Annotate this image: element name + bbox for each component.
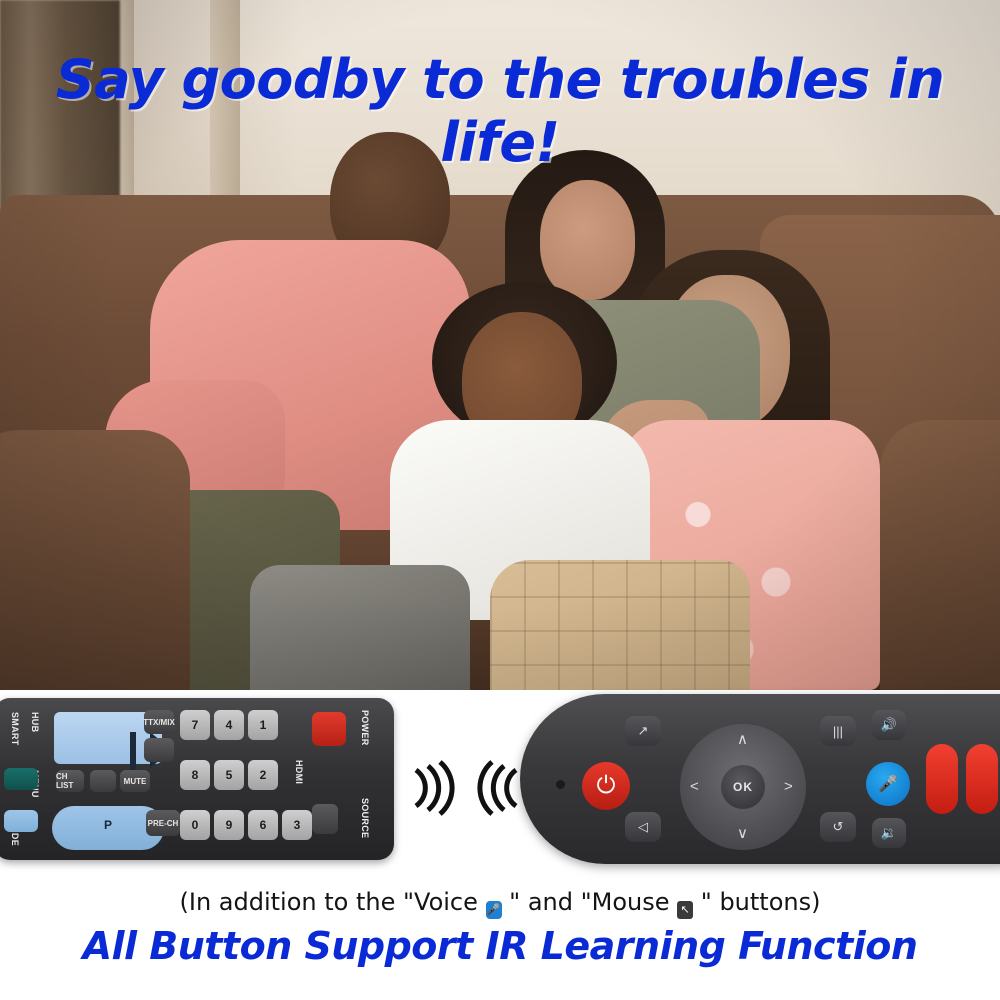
microphone-hole-icon: [556, 780, 565, 789]
smart-label: SMART: [10, 712, 20, 746]
key-1[interactable]: 1: [248, 710, 278, 740]
mouse-pointer-button[interactable]: ↗: [625, 716, 661, 746]
caption-prefix: (In addition to the "Voice: [180, 888, 486, 916]
microphone-icon: 🎤: [486, 901, 502, 919]
key-4[interactable]: 4: [214, 710, 244, 740]
red-key-1[interactable]: [926, 744, 958, 814]
btn-emanual[interactable]: [144, 738, 174, 762]
down-arrow-icon[interactable]: ∨: [737, 824, 748, 842]
red-key-2[interactable]: [966, 744, 998, 814]
air-mouse-remote: ⏻ ∧ < > ∨ OK ↗ ◁ ||| ↺ 🔊 🔉 🎤: [520, 694, 1000, 864]
mouse-cursor-icon: ↖: [677, 901, 693, 919]
btn-guide[interactable]: [4, 810, 38, 832]
key-2[interactable]: 2: [248, 760, 278, 790]
ir-waves-svg: [406, 758, 526, 818]
btn-ttxmix[interactable]: TTX/MIX: [144, 710, 174, 734]
product-feature-panel: SMART HUB MENU GUIDE CH LIST MUTE TTX/MI…: [0, 690, 1000, 1000]
btn-prech[interactable]: PRE-CH: [146, 810, 180, 836]
key-5[interactable]: 5: [214, 760, 244, 790]
return-button[interactable]: ↺: [820, 812, 856, 842]
btn-chlist[interactable]: CH LIST: [56, 770, 84, 792]
key-7[interactable]: 7: [180, 710, 210, 740]
back-button[interactable]: ◁: [625, 812, 661, 842]
tv-remote: SMART HUB MENU GUIDE CH LIST MUTE TTX/MI…: [0, 698, 394, 860]
dpad[interactable]: ∧ < > ∨ OK: [680, 724, 806, 850]
caption-suffix: " buttons): [693, 888, 820, 916]
caption-middle: " and "Mouse: [502, 888, 678, 916]
hub-label: HUB: [30, 712, 40, 732]
source-label: SOURCE: [360, 798, 370, 838]
power-button[interactable]: ⏻: [582, 762, 630, 810]
ir-signal-waves: [406, 758, 526, 818]
left-arrow-icon[interactable]: <: [690, 778, 699, 795]
key-3[interactable]: 3: [282, 810, 312, 840]
key-0[interactable]: 0: [180, 810, 210, 840]
btn-extra-1[interactable]: [90, 770, 116, 792]
volume-up-button[interactable]: 🔊: [872, 710, 906, 740]
key-8[interactable]: 8: [180, 760, 210, 790]
menu-lines-button[interactable]: |||: [820, 716, 856, 746]
key-6[interactable]: 6: [248, 810, 278, 840]
key-9[interactable]: 9: [214, 810, 244, 840]
caption-primary: All Button Support IR Learning Function: [0, 924, 1000, 968]
right-arrow-icon[interactable]: >: [784, 778, 793, 795]
page-title: Say goodby to the troubles in life!: [0, 48, 1000, 174]
caption-secondary: (In addition to the "Voice 🎤 " and "Mous…: [0, 888, 1000, 919]
btn-teal-1[interactable]: [4, 768, 38, 790]
up-arrow-icon[interactable]: ∧: [737, 730, 748, 748]
display-bar: [130, 732, 136, 772]
hdmi-label: HDMI: [294, 760, 304, 784]
volume-down-button[interactable]: 🔉: [872, 818, 906, 848]
btn-source[interactable]: [312, 804, 338, 834]
voice-button[interactable]: 🎤: [866, 762, 910, 806]
power-label: POWER: [360, 710, 370, 746]
btn-mute[interactable]: MUTE: [120, 770, 150, 792]
tv-power-button[interactable]: [312, 712, 346, 746]
ok-button[interactable]: OK: [721, 765, 765, 809]
